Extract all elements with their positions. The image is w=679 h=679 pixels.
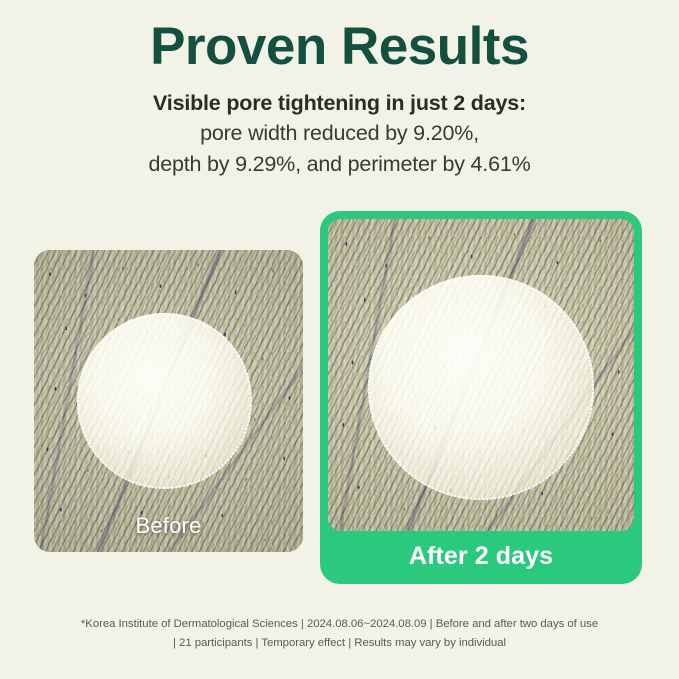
before-after-comparison: Before After 2 days: [0, 205, 679, 595]
page-title: Proven Results: [0, 0, 679, 75]
subtitle-metric-line-1: pore width reduced by 9.20%,: [0, 118, 679, 149]
after-skin-image: [328, 219, 634, 531]
after-card[interactable]: After 2 days: [320, 211, 642, 584]
subtitle-block: Visible pore tightening in just 2 days: …: [0, 89, 679, 180]
before-skin-image: [34, 250, 303, 552]
before-label: Before: [34, 513, 303, 539]
footer-disclaimer: *Korea Institute of Dermatological Scien…: [0, 615, 679, 652]
subtitle-headline: Visible pore tightening in just 2 days:: [0, 89, 679, 118]
after-photo-frame: [328, 219, 634, 531]
footer-line-2: | 21 participants | Temporary effect | R…: [0, 634, 679, 652]
header: Proven Results Visible pore tightening i…: [0, 0, 679, 181]
subtitle-metric-line-2: depth by 9.29%, and perimeter by 4.61%: [0, 149, 679, 180]
footer-line-1: *Korea Institute of Dermatological Scien…: [0, 615, 679, 633]
after-label: After 2 days: [328, 531, 634, 584]
before-card[interactable]: Before: [34, 250, 303, 552]
promo-page: Proven Results Visible pore tightening i…: [0, 0, 679, 679]
